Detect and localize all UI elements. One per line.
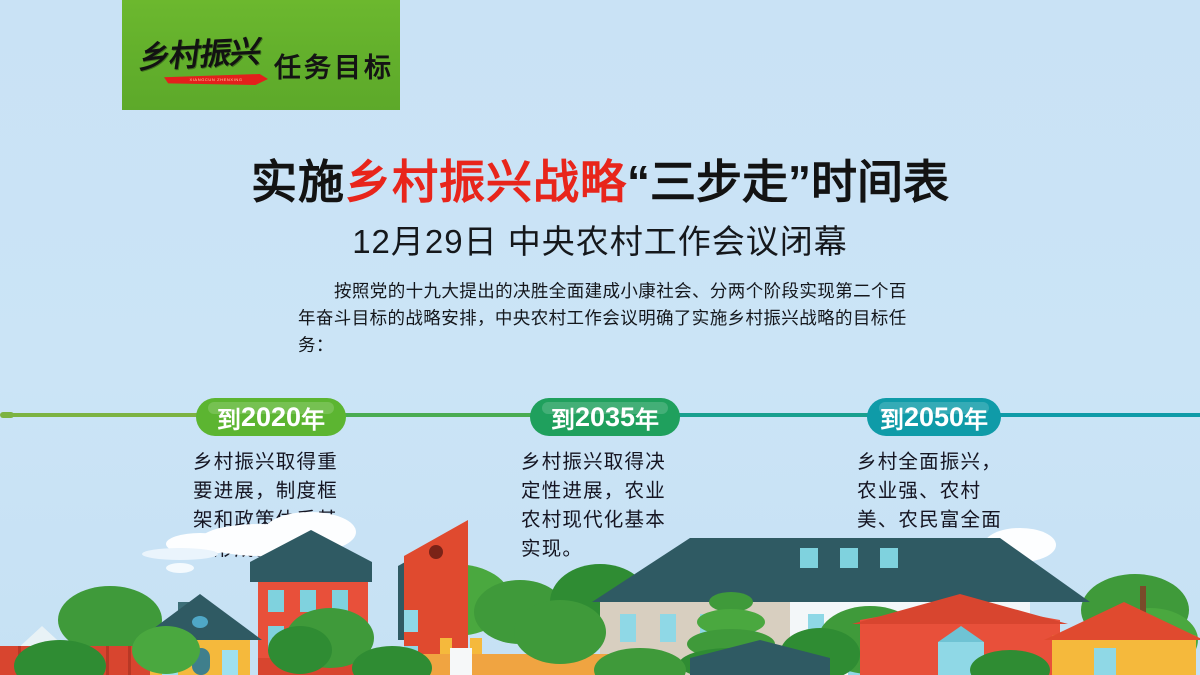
logo-banner: 乡村振兴 XIANGCUN ZHENXING 任务目标 bbox=[122, 0, 400, 110]
timeline-segment-3 bbox=[678, 413, 872, 417]
title-part-2: “三步走”时间表 bbox=[627, 156, 949, 208]
badge-gloss bbox=[879, 402, 989, 414]
logo-swoosh-icon: XIANGCUN ZHENXING bbox=[164, 74, 268, 85]
village-svg bbox=[0, 490, 1200, 675]
logo-subtitle: 任务目标 bbox=[274, 46, 394, 85]
logo-calligraphy-text: 乡村振兴 bbox=[137, 35, 267, 75]
timeline: 到2020年 到2035年 到2050年 bbox=[0, 398, 1200, 440]
milestone-badge-2050[interactable]: 到2050年 bbox=[867, 398, 1001, 436]
logo-swoosh-micro-text: XIANGCUN ZHENXING bbox=[164, 75, 268, 85]
title-part-1: 实施 bbox=[251, 156, 345, 208]
milestone-badge-2020[interactable]: 到2020年 bbox=[196, 398, 346, 436]
milestone-badge-2035[interactable]: 到2035年 bbox=[530, 398, 680, 436]
timeline-segment-1 bbox=[10, 413, 200, 417]
page-title: 实施乡村振兴战略“三步走”时间表 bbox=[0, 146, 1200, 212]
paragraph-text: 按照党的十九大提出的决胜全面建成小康社会、分两个阶段实现第二个百年奋斗目标的战略… bbox=[298, 281, 907, 355]
page-subtitle: 12月29日 中央农村工作会议闭幕 bbox=[0, 215, 1200, 263]
lead-paragraph: 按照党的十九大提出的决胜全面建成小康社会、分两个阶段实现第二个百年奋斗目标的战略… bbox=[298, 278, 916, 359]
badge-gloss bbox=[542, 402, 668, 414]
logo-calligraphy: 乡村振兴 XIANGCUN ZHENXING bbox=[140, 38, 264, 92]
title-highlight: 乡村振兴战略 bbox=[345, 156, 627, 208]
timeline-segment-4 bbox=[999, 413, 1200, 417]
poster-canvas: 乡村振兴 XIANGCUN ZHENXING 任务目标 实施乡村振兴战略“三步走… bbox=[0, 0, 1200, 675]
timeline-segment-2 bbox=[344, 413, 536, 417]
village-illustration bbox=[0, 490, 1200, 675]
badge-gloss bbox=[208, 402, 334, 414]
